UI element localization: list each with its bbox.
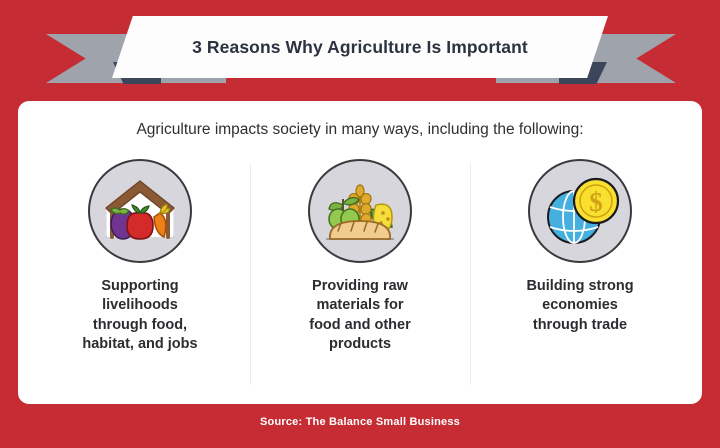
card-subtitle: Agriculture impacts society in many ways… bbox=[18, 121, 702, 139]
house-vegetables-icon bbox=[88, 159, 192, 263]
infographic-page: { "theme": { "background_red": "#c62c34"… bbox=[0, 0, 720, 448]
reason-caption-3: Building strong economies through trade bbox=[520, 277, 639, 335]
page-title: 3 Reasons Why Agriculture Is Important bbox=[192, 37, 528, 58]
ribbon-main-panel: 3 Reasons Why Agriculture Is Important bbox=[112, 16, 608, 78]
bread-wheat-corn-icon bbox=[308, 159, 412, 263]
reason-caption-1: Supporting livelihoods through food, hab… bbox=[76, 277, 203, 354]
reason-column-2: Providing raw materials for food and oth… bbox=[250, 159, 470, 389]
ribbon-banner: 3 Reasons Why Agriculture Is Important bbox=[0, 0, 720, 101]
source-attribution: Source: The Balance Small Business bbox=[0, 416, 720, 428]
svg-text:$: $ bbox=[589, 187, 603, 217]
reason-column-1: Supporting livelihoods through food, hab… bbox=[30, 159, 250, 389]
reason-caption-2: Providing raw materials for food and oth… bbox=[303, 277, 417, 354]
reason-column-3: $ Building strong economies through trad… bbox=[470, 159, 690, 389]
content-card: Agriculture impacts society in many ways… bbox=[18, 101, 702, 404]
globe-coin-icon: $ bbox=[528, 159, 632, 263]
reasons-columns: Supporting livelihoods through food, hab… bbox=[30, 159, 690, 389]
